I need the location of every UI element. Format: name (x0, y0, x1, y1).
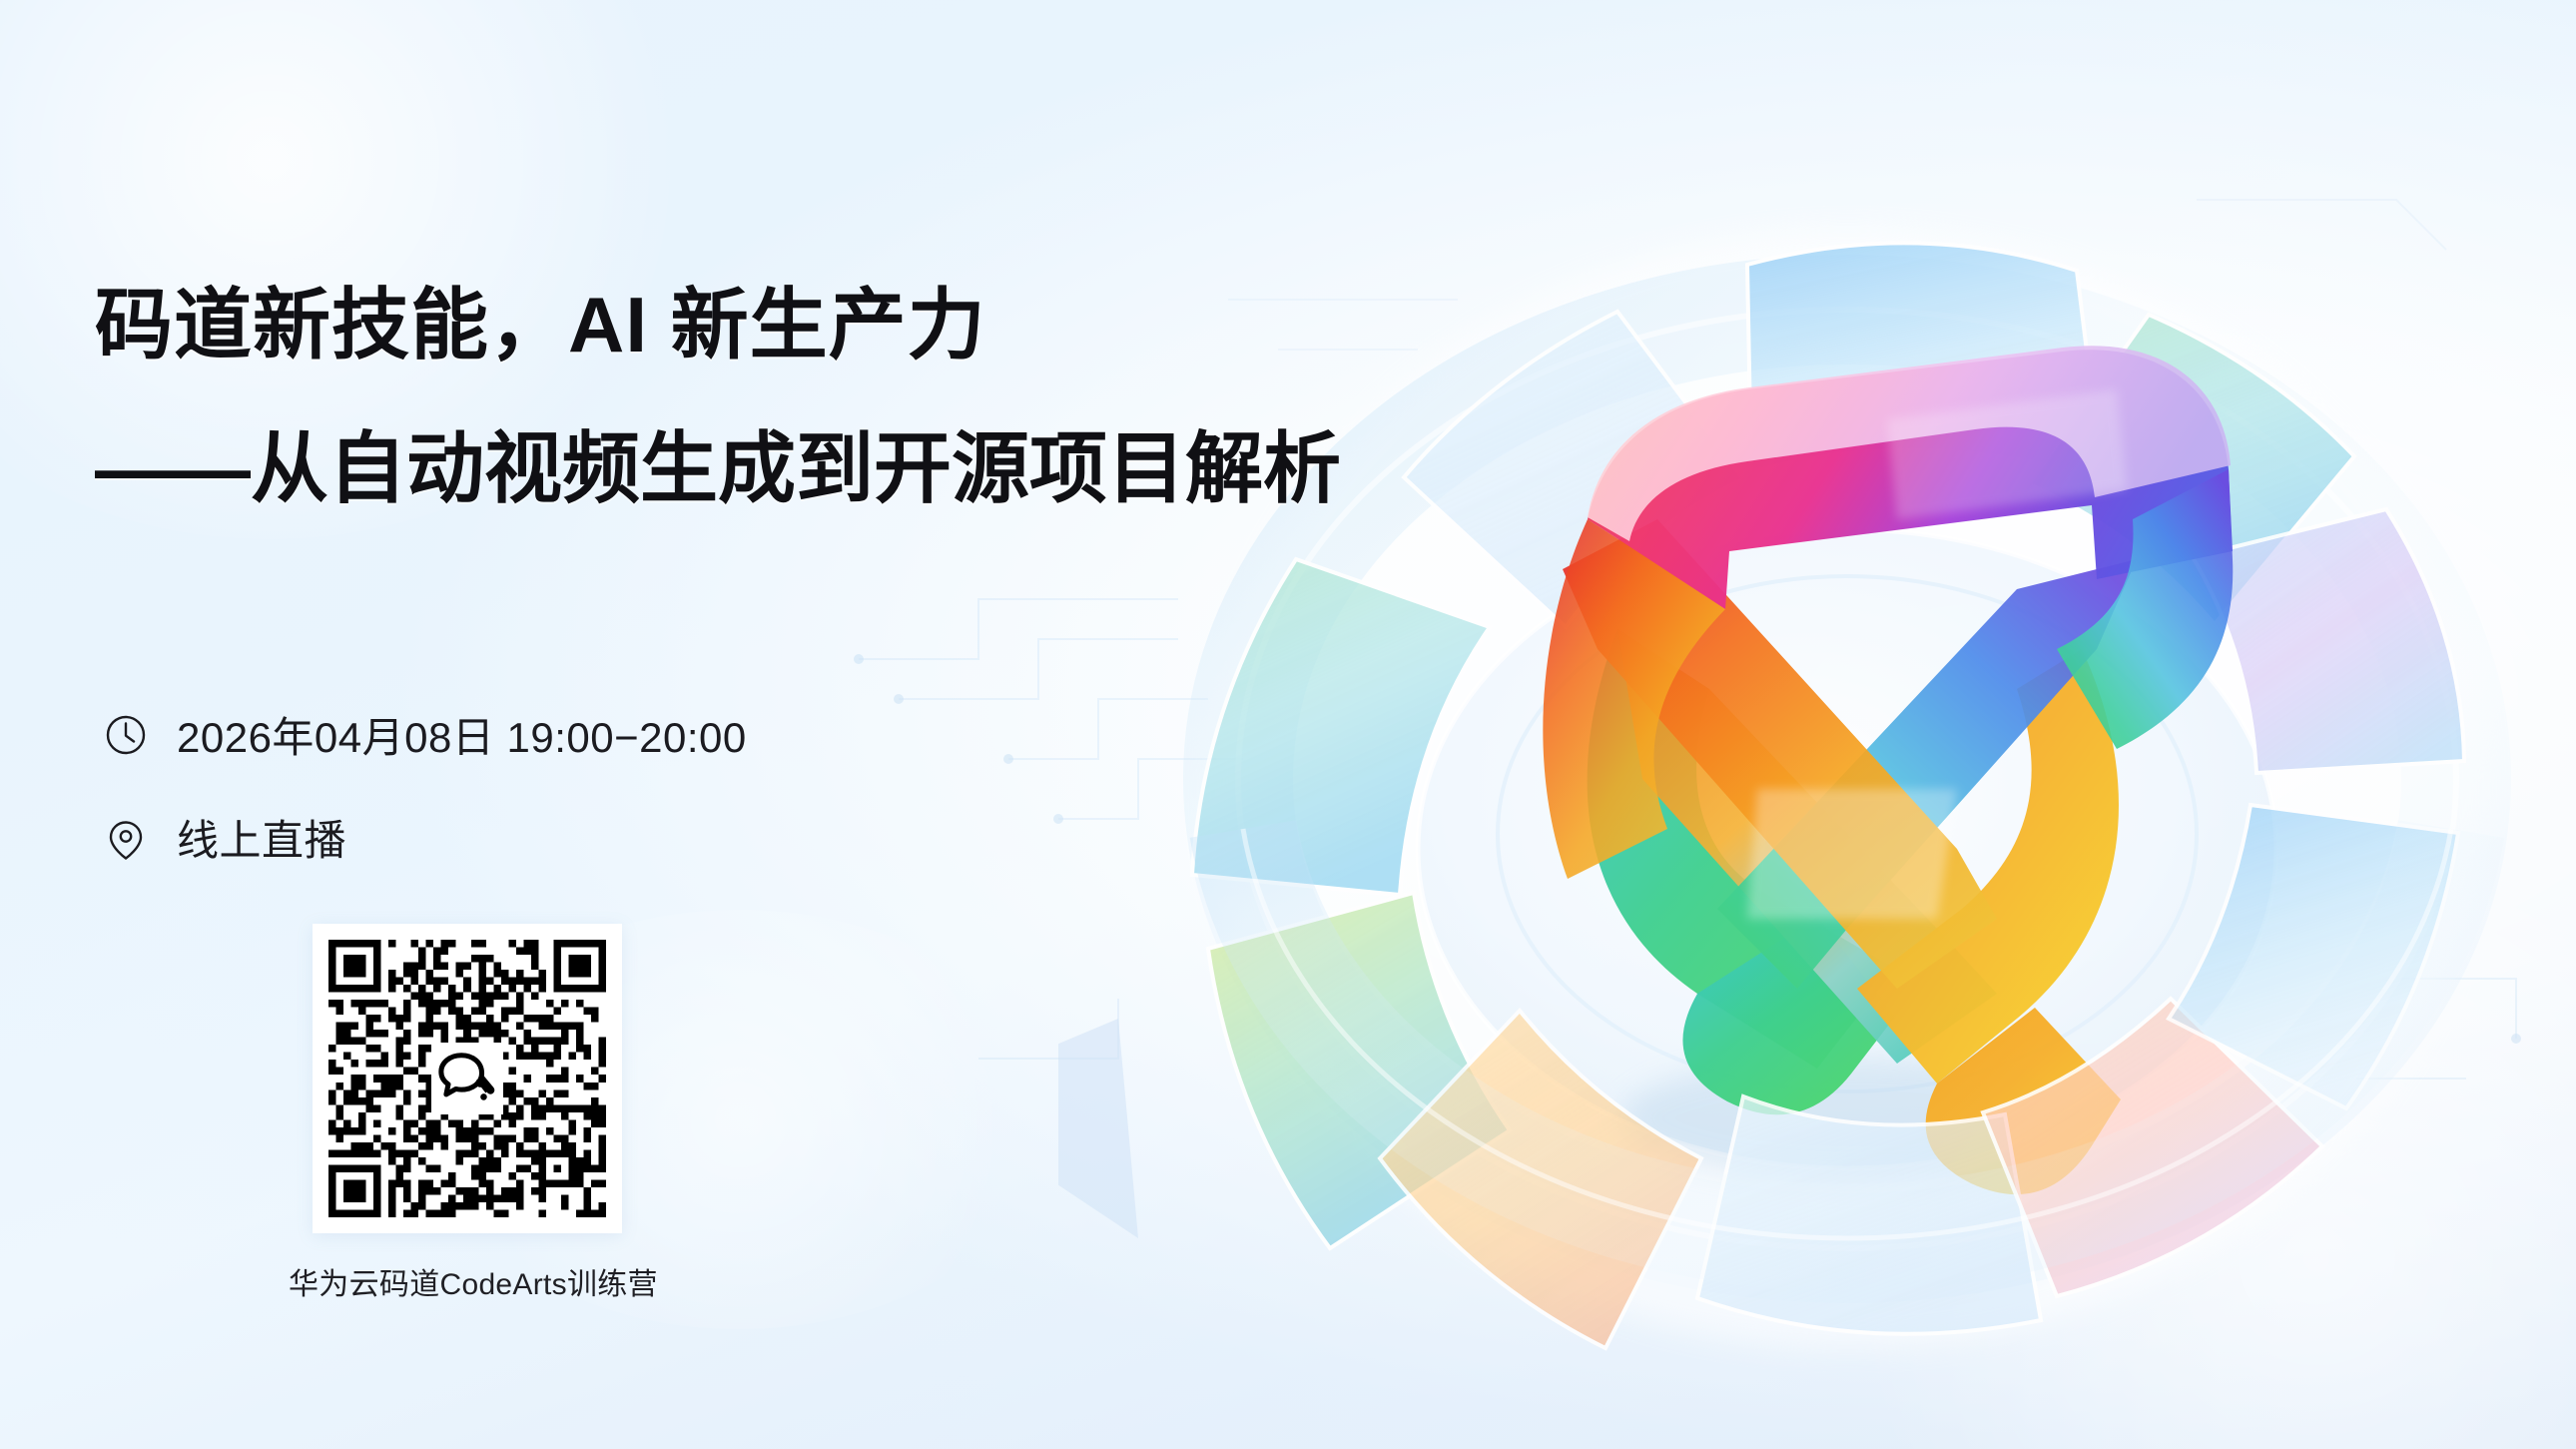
background-glow-bottom-right (1817, 810, 2576, 1449)
event-location-text: 线上直播 (177, 807, 346, 868)
speech-bubble-megaphone-icon (431, 1043, 503, 1114)
event-location-row: 线上直播 (103, 807, 747, 868)
location-pin-icon (103, 815, 149, 861)
title-line-2: ——从自动视频生成到开源项目解析 (95, 429, 1341, 507)
clock-icon (103, 712, 149, 758)
event-meta: 2026年04月08日 19:00−20:00 线上直播 (103, 704, 747, 910)
text-content: 码道新技能，AI 新生产力 ——从自动视频生成到开源项目解析 2026年04月0… (95, 0, 1513, 1449)
qr-caption: 华为云码道CodeArts训练营 (289, 1259, 598, 1303)
qr-block: 华为云码道CodeArts训练营 (313, 924, 622, 1303)
event-datetime-text: 2026年04月08日 19:00−20:00 (177, 704, 747, 765)
title-block: 码道新技能，AI 新生产力 ——从自动视频生成到开源项目解析 (95, 286, 1341, 507)
event-datetime-row: 2026年04月08日 19:00−20:00 (103, 704, 747, 765)
ribbon-z-logo (1543, 346, 2233, 1194)
qr-code[interactable] (313, 924, 622, 1233)
glass-petals-back (1404, 243, 2464, 773)
poster-root: 码道新技能，AI 新生产力 ——从自动视频生成到开源项目解析 2026年04月0… (0, 0, 2576, 1449)
title-line-1: 码道新技能，AI 新生产力 (95, 286, 1341, 363)
